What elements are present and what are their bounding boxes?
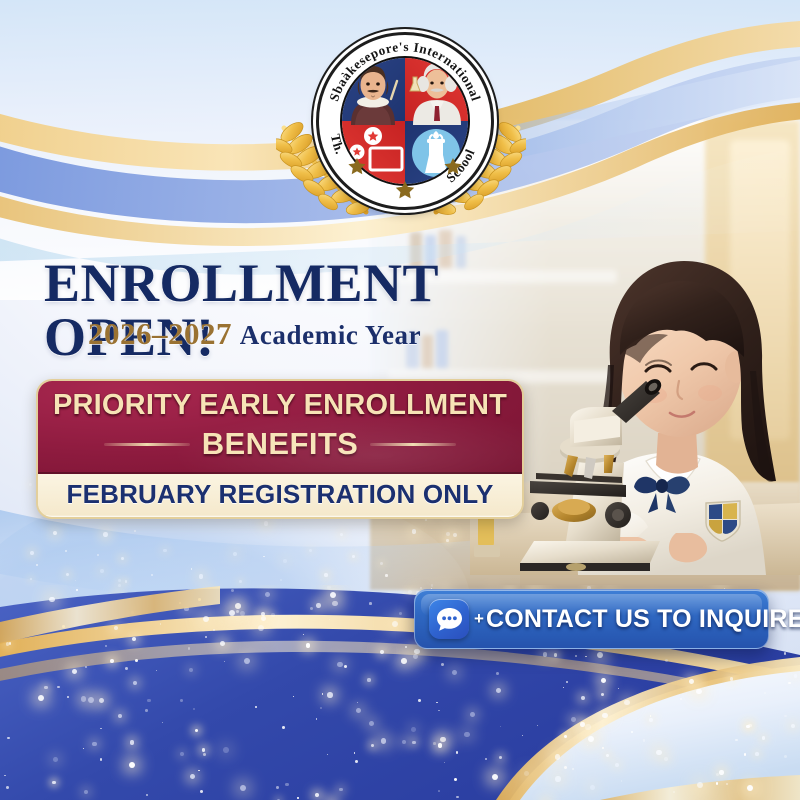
crest-seal: Sbaàkesepore's International Th. Scoool (316, 32, 494, 210)
academic-year-label: Academic Year (240, 320, 421, 350)
plaque-line-1: PRIORITY EARLY ENROLLMENT (38, 389, 522, 422)
contact-us-label: CONTACT US TO INQUIRE (486, 605, 800, 634)
plaque-rule-right (370, 443, 456, 446)
crest-stars (319, 35, 491, 207)
benefits-plaque: PRIORITY EARLY ENROLLMENT BENEFITS FEBRU… (36, 379, 524, 519)
plaque-footer: FEBRUARY REGISTRATION ONLY (38, 474, 522, 515)
contact-us-button[interactable]: + CONTACT US TO INQUIRE (414, 589, 769, 649)
plaque-line-3: FEBRUARY REGISTRATION ONLY (66, 479, 493, 510)
plaque-line-2-row: BENEFITS (38, 426, 522, 462)
plaque-banner: PRIORITY EARLY ENROLLMENT BENEFITS (38, 381, 522, 474)
school-crest: Sbaàkesepore's International Th. Scoool (276, 28, 526, 228)
poster-canvas: Sbaàkesepore's International Th. Scoool (0, 0, 800, 800)
academic-year-subtitle: 2026–2027 Academic Year (88, 318, 558, 349)
plaque-line-2: BENEFITS (202, 426, 359, 462)
year-range-text: 2026–2027 (88, 316, 232, 351)
plaque-rule-left (104, 443, 190, 446)
message-bubble-icon (429, 599, 469, 639)
plus-sign: + (474, 609, 484, 629)
